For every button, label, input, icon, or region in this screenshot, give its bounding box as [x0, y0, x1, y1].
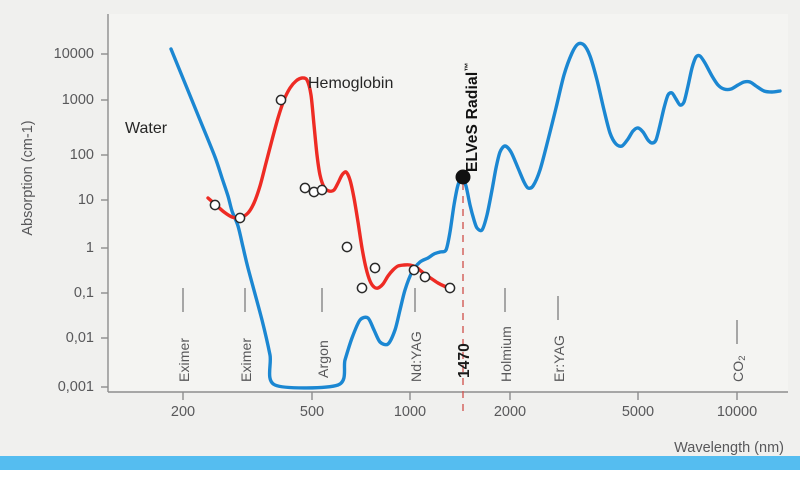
data-point-marker — [300, 183, 309, 192]
laser-label-co2: CO2 — [730, 355, 746, 382]
laser-label-eximer-1: Eximer — [176, 338, 192, 382]
laser-label-elves-1470: 1470 — [456, 343, 474, 378]
data-point-marker — [445, 283, 454, 292]
data-point-marker — [342, 242, 351, 251]
data-point-marker — [409, 265, 418, 274]
data-point-marker — [210, 200, 219, 209]
bottom-strip — [0, 470, 800, 480]
y-tick-label: 1 — [0, 240, 94, 256]
x-tick-label: 1000 — [394, 404, 426, 420]
elves-radial-text: ELVeS Radial — [464, 72, 481, 172]
laser-label-text: CO — [730, 361, 746, 382]
data-point-marker — [370, 263, 379, 272]
x-tick-label: 200 — [171, 404, 195, 420]
y-tick-label: 10 — [0, 192, 94, 208]
data-point-marker — [276, 95, 285, 104]
laser-label-nd-yag: Nd:YAG — [408, 331, 424, 382]
laser-label-argon: Argon — [315, 340, 331, 378]
y-tick-label: 1000 — [0, 92, 94, 108]
elves-radial-label: ELVeS Radial™ — [463, 62, 482, 172]
y-axis-title: Absorption (cm-1) — [20, 88, 36, 268]
data-point-marker — [317, 185, 326, 194]
water-label: Water — [125, 120, 167, 138]
trademark-symbol: ™ — [463, 62, 473, 71]
data-point-marker — [420, 272, 429, 281]
x-axis-title: Wavelength (nm) — [674, 440, 784, 456]
x-tick-label: 500 — [300, 404, 324, 420]
y-tick-label: 0,001 — [0, 379, 94, 395]
x-tick-label: 2000 — [494, 404, 526, 420]
x-tick-label: 5000 — [622, 404, 654, 420]
laser-label-holmium: Holmium — [498, 326, 514, 382]
data-point-marker — [357, 283, 366, 292]
x-tick-label: 10000 — [717, 404, 757, 420]
y-tick-label: 0,1 — [0, 285, 94, 301]
y-tick-label: 10000 — [0, 46, 94, 62]
laser-label-er-yag: Er:YAG — [551, 335, 567, 382]
hemoglobin-label: Hemoglobin — [308, 75, 393, 93]
data-point-marker — [235, 213, 244, 222]
laser-label-subscript: 2 — [737, 355, 748, 360]
accent-bar — [0, 456, 800, 470]
absorption-spectrum-figure: 1000010001001010,10,010,001 200500100020… — [0, 0, 800, 480]
y-tick-label: 0,01 — [0, 330, 94, 346]
laser-label-eximer-2: Eximer — [238, 338, 254, 382]
y-tick-label: 100 — [0, 147, 94, 163]
